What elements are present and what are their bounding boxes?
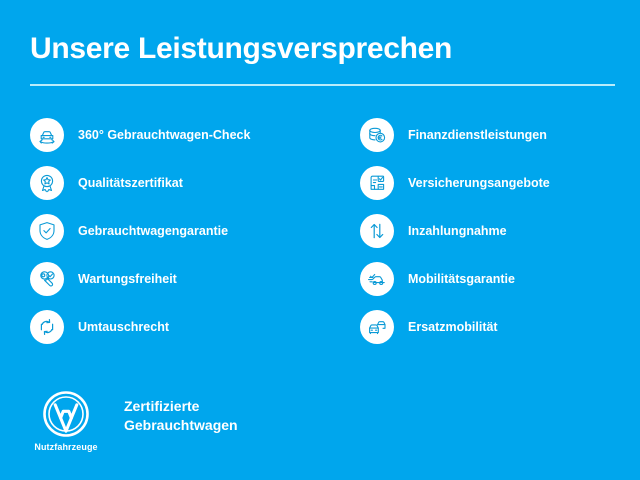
feature-item-right-of-exchange: Umtauschrecht — [30, 310, 322, 344]
two-cars-icon — [360, 310, 394, 344]
feature-label: Gebrauchtwagengarantie — [78, 223, 228, 239]
feature-item-financial-services: Finanzdienstleistungen — [360, 118, 615, 152]
feature-label: Finanzdienstleistungen — [408, 127, 547, 143]
footer-claim: Zertifizierte Gebrauchtwagen — [124, 397, 238, 435]
feature-label: Versicherungsangebote — [408, 175, 550, 191]
feature-item-warranty: Gebrauchtwagengarantie — [30, 214, 322, 248]
feature-label: 360° Gebrauchtwagen-Check — [78, 127, 250, 143]
feature-item-quality-certificate: Qualitätszertifikat — [30, 166, 322, 200]
volkswagen-logo — [42, 390, 90, 438]
clipboard-check-icon — [360, 166, 394, 200]
volkswagen-logo-subtitle: Nutzfahrzeuge — [34, 442, 97, 452]
car-360-check-icon — [30, 118, 64, 152]
feature-label: Qualitätszertifikat — [78, 175, 183, 191]
up-down-arrows-icon — [360, 214, 394, 248]
feature-item-mobility-guarantee: Mobilitätsgarantie — [360, 262, 615, 296]
promo-poster: Unsere Leistungsversprechen 360° Gebrauc… — [0, 0, 640, 480]
feature-label: Inzahlungnahme — [408, 223, 507, 239]
feature-item-360-check: 360° Gebrauchtwagen-Check — [30, 118, 322, 152]
feature-label: Mobilitätsgarantie — [408, 271, 515, 287]
shield-check-icon — [30, 214, 64, 248]
footer: Nutzfahrzeuge Zertifizierte Gebrauchtwag… — [30, 390, 238, 452]
award-rosette-icon — [30, 166, 64, 200]
feature-item-trade-in: Inzahlungnahme — [360, 214, 615, 248]
page-title: Unsere Leistungsversprechen — [30, 30, 615, 68]
header-divider — [30, 84, 615, 86]
features-columns: 360° Gebrauchtwagen-Check Qualitätszerti… — [30, 118, 615, 358]
coins-euro-icon — [360, 118, 394, 152]
feature-item-maintenance-free: Wartungsfreiheit — [30, 262, 322, 296]
footer-claim-line-2: Gebrauchtwagen — [124, 416, 238, 435]
exchange-arrows-icon — [30, 310, 64, 344]
features-column-right: Finanzdienstleistungen Versicherungsange… — [360, 118, 615, 358]
footer-claim-line-1: Zertifizierte — [124, 397, 238, 416]
wrench-check-icon — [30, 262, 64, 296]
feature-label: Wartungsfreiheit — [78, 271, 177, 287]
volkswagen-brand-block: Nutzfahrzeuge — [30, 390, 102, 452]
feature-item-replacement-mobility: Ersatzmobilität — [360, 310, 615, 344]
header: Unsere Leistungsversprechen — [30, 30, 615, 86]
features-column-left: 360° Gebrauchtwagen-Check Qualitätszerti… — [30, 118, 322, 358]
feature-label: Ersatzmobilität — [408, 319, 498, 335]
car-motion-check-icon — [360, 262, 394, 296]
feature-label: Umtauschrecht — [78, 319, 169, 335]
feature-item-insurance-offers: Versicherungsangebote — [360, 166, 615, 200]
